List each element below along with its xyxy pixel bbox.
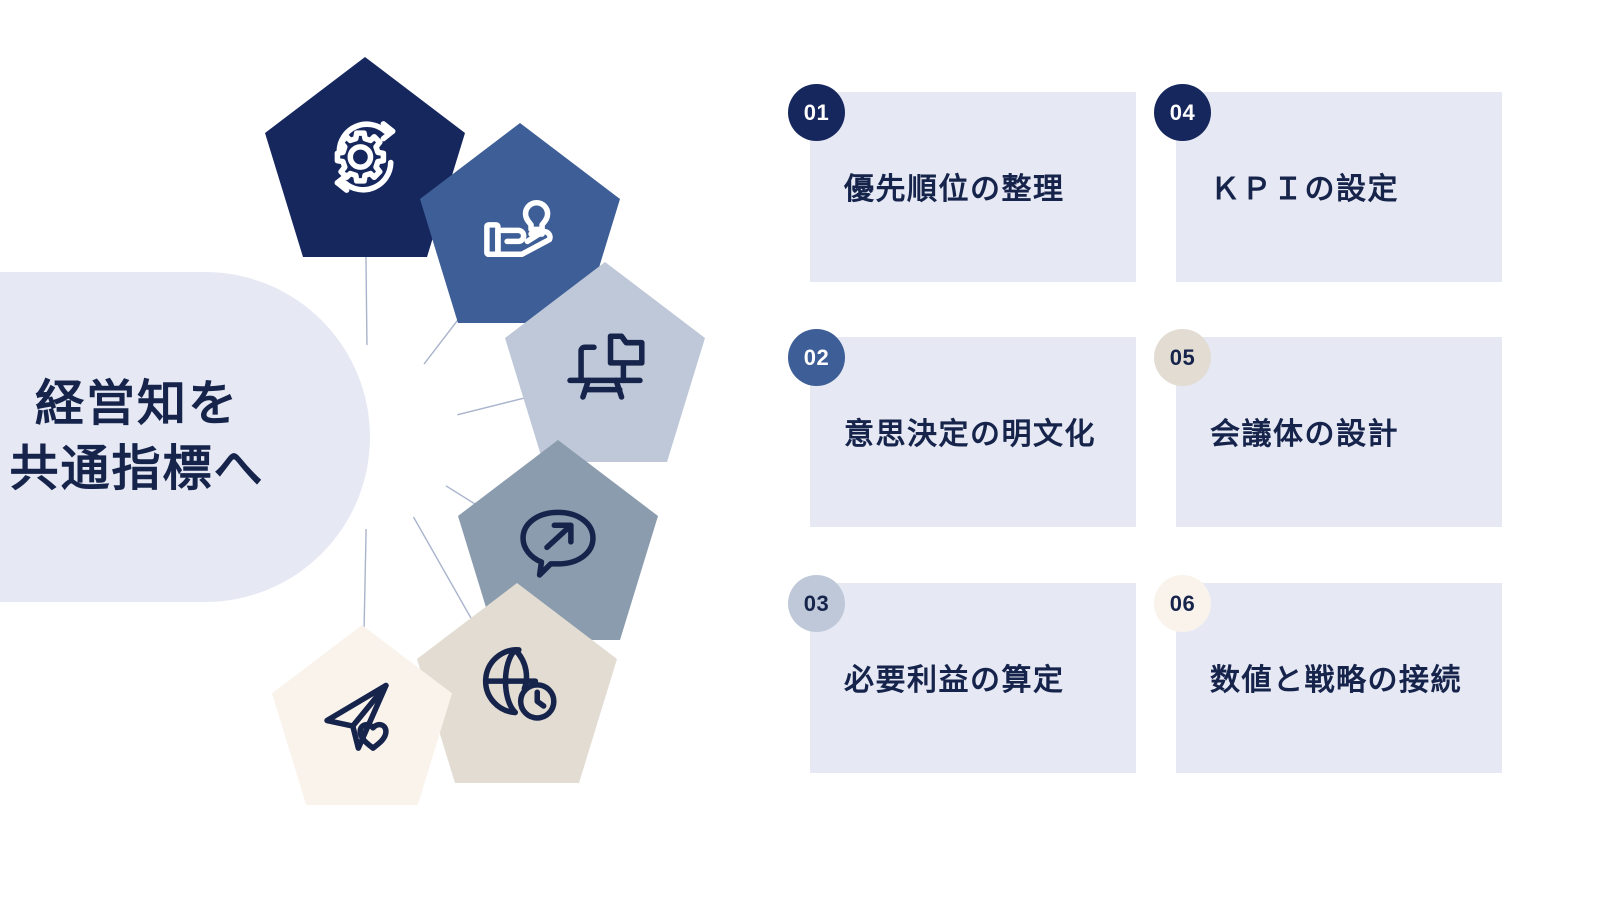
step-card-06[interactable]: 数値と戦略の接続 [1176, 583, 1502, 773]
step-card-label: 意思決定の明文化 [844, 409, 1096, 453]
step-card-05[interactable]: 会議体の設計 [1176, 337, 1502, 527]
step-card-label: 会議体の設計 [1210, 409, 1399, 453]
step-card-label: 優先順位の整理 [844, 164, 1065, 208]
step-badge-06: 06 [1154, 575, 1211, 632]
step-card-01[interactable]: 優先順位の整理 [810, 92, 1136, 282]
step-badge-03: 03 [788, 575, 845, 632]
step-badge-02: 02 [788, 329, 845, 386]
step-card-02[interactable]: 意思決定の明文化 [810, 337, 1136, 527]
step-card-04[interactable]: ＫＰＩの設定 [1176, 92, 1502, 282]
step-card-label: 数値と戦略の接続 [1210, 655, 1462, 699]
step-badge-04: 04 [1154, 84, 1211, 141]
step-badge-05: 05 [1154, 329, 1211, 386]
step-badge-01: 01 [788, 84, 845, 141]
step-card-label: ＫＰＩの設定 [1210, 164, 1399, 208]
step-card-03[interactable]: 必要利益の算定 [810, 583, 1136, 773]
infographic-canvas: 経営知を 共通指標へ [0, 0, 1600, 900]
step-card-grid: 優先順位の整理01意思決定の明文化02必要利益の算定03ＫＰＩの設定04会議体の… [0, 0, 1600, 900]
step-card-label: 必要利益の算定 [844, 655, 1065, 699]
